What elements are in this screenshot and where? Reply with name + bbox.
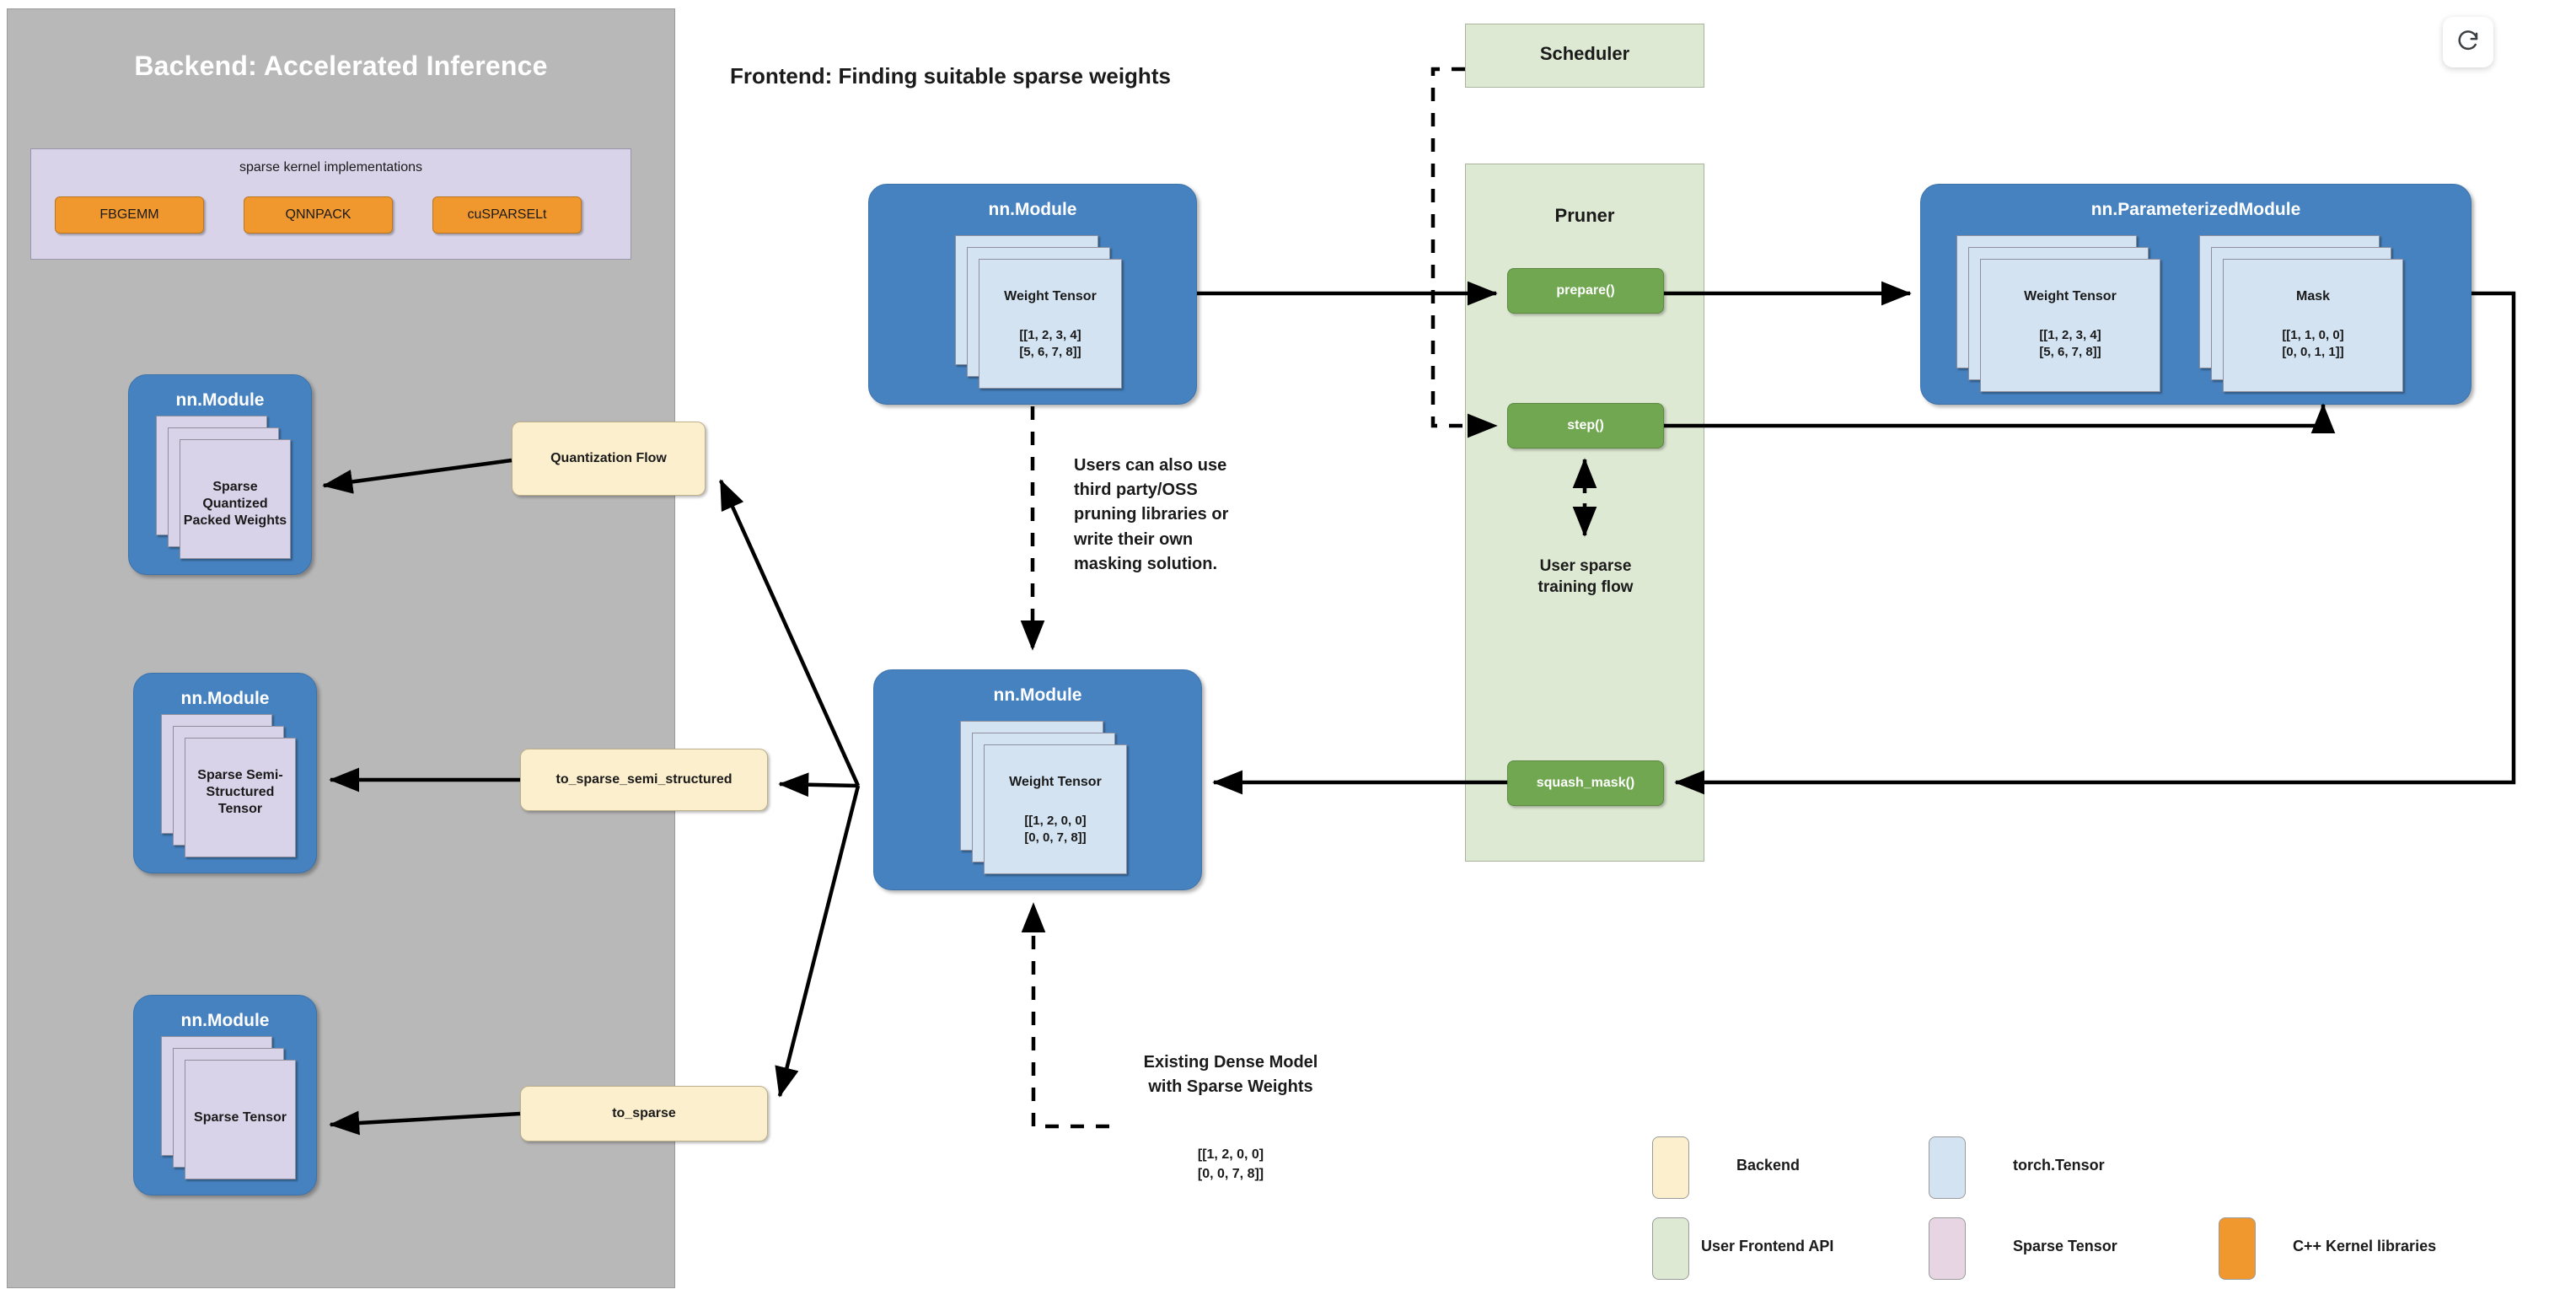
- arrow-sparse-module-to-quantization-flow: [721, 481, 858, 786]
- connector-arrows: [0, 0, 2576, 1300]
- diagram-canvas: Backend: Accelerated Inference sparse ke…: [0, 0, 2576, 1300]
- arrow-sparse-module-to-to-sparse-semi-structured: [780, 784, 858, 786]
- arrow-dashed-scheduler-to-step: [1433, 69, 1496, 426]
- arrow-parameterized-to-squash-mask: [1676, 293, 2514, 782]
- arrow-dashed-existing-model-to-sparse-module: [1033, 904, 1109, 1126]
- arrow-step-to-mask: [1664, 405, 2323, 426]
- arrow-to-sparse-to-module: [330, 1114, 520, 1125]
- arrow-quantization-flow-to-module: [324, 460, 512, 486]
- arrow-sparse-module-to-to-sparse: [780, 786, 858, 1096]
